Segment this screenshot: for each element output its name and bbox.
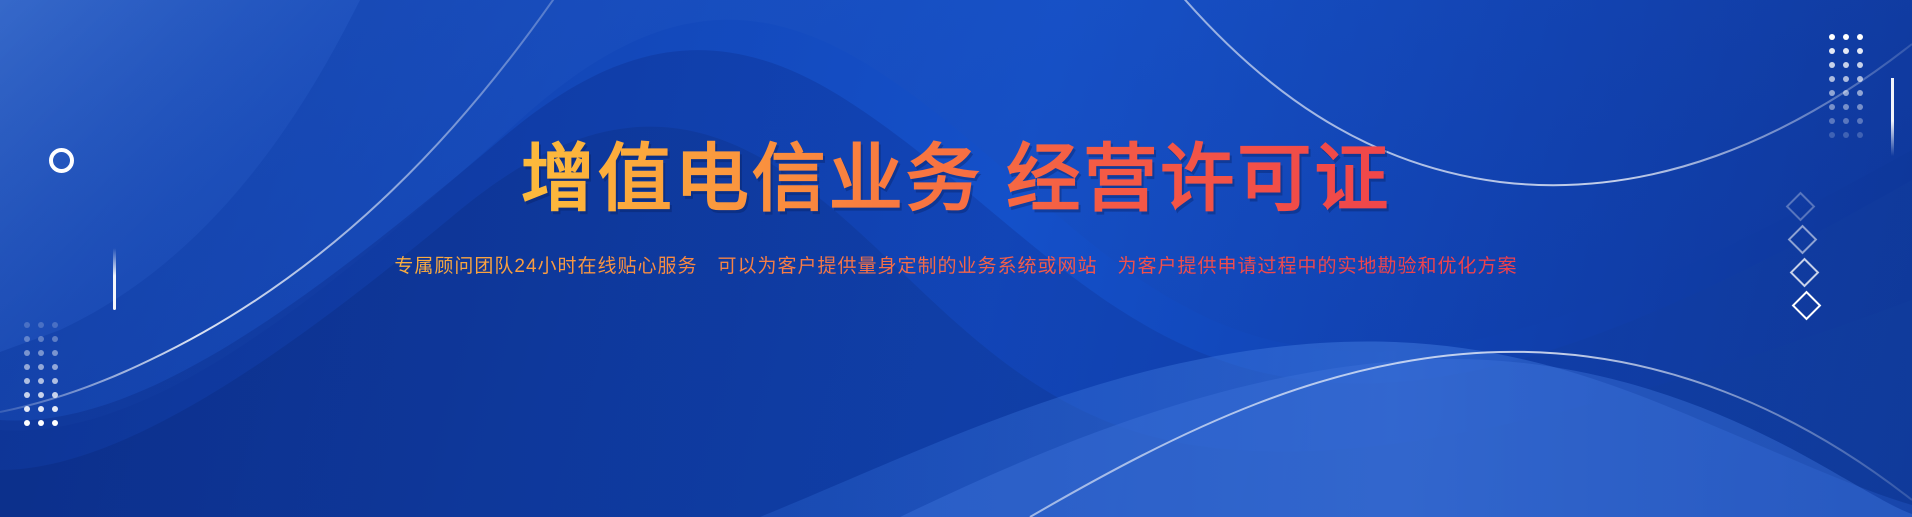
dot [24, 336, 30, 342]
dot [52, 392, 58, 398]
dot [24, 378, 30, 384]
dot [24, 350, 30, 356]
banner-title: 增值电信业务 经营许可证 [0, 0, 1912, 221]
dot [38, 364, 44, 370]
dot [24, 406, 30, 412]
dot [52, 322, 58, 328]
dot [24, 364, 30, 370]
dot [24, 322, 30, 328]
diamond-outline-icon [1792, 291, 1822, 321]
dot [52, 336, 58, 342]
dot [38, 336, 44, 342]
dot-grid-icon-bottom-left [20, 318, 62, 430]
dot [38, 322, 44, 328]
dot [52, 378, 58, 384]
banner-subtitle: 专属顾问团队24小时在线贴心服务 可以为客户提供量身定制的业务系统或网站 为客户… [0, 221, 1912, 278]
dot [52, 420, 58, 426]
dot [52, 364, 58, 370]
dot [24, 420, 30, 426]
dot [38, 406, 44, 412]
dot [38, 350, 44, 356]
dot [52, 350, 58, 356]
dot [38, 420, 44, 426]
dot [24, 392, 30, 398]
dot [38, 392, 44, 398]
dot [52, 406, 58, 412]
banner-content: 增值电信业务 经营许可证 专属顾问团队24小时在线贴心服务 可以为客户提供量身定… [0, 0, 1912, 278]
promo-banner: 增值电信业务 经营许可证 专属顾问团队24小时在线贴心服务 可以为客户提供量身定… [0, 0, 1912, 517]
dot [38, 378, 44, 384]
